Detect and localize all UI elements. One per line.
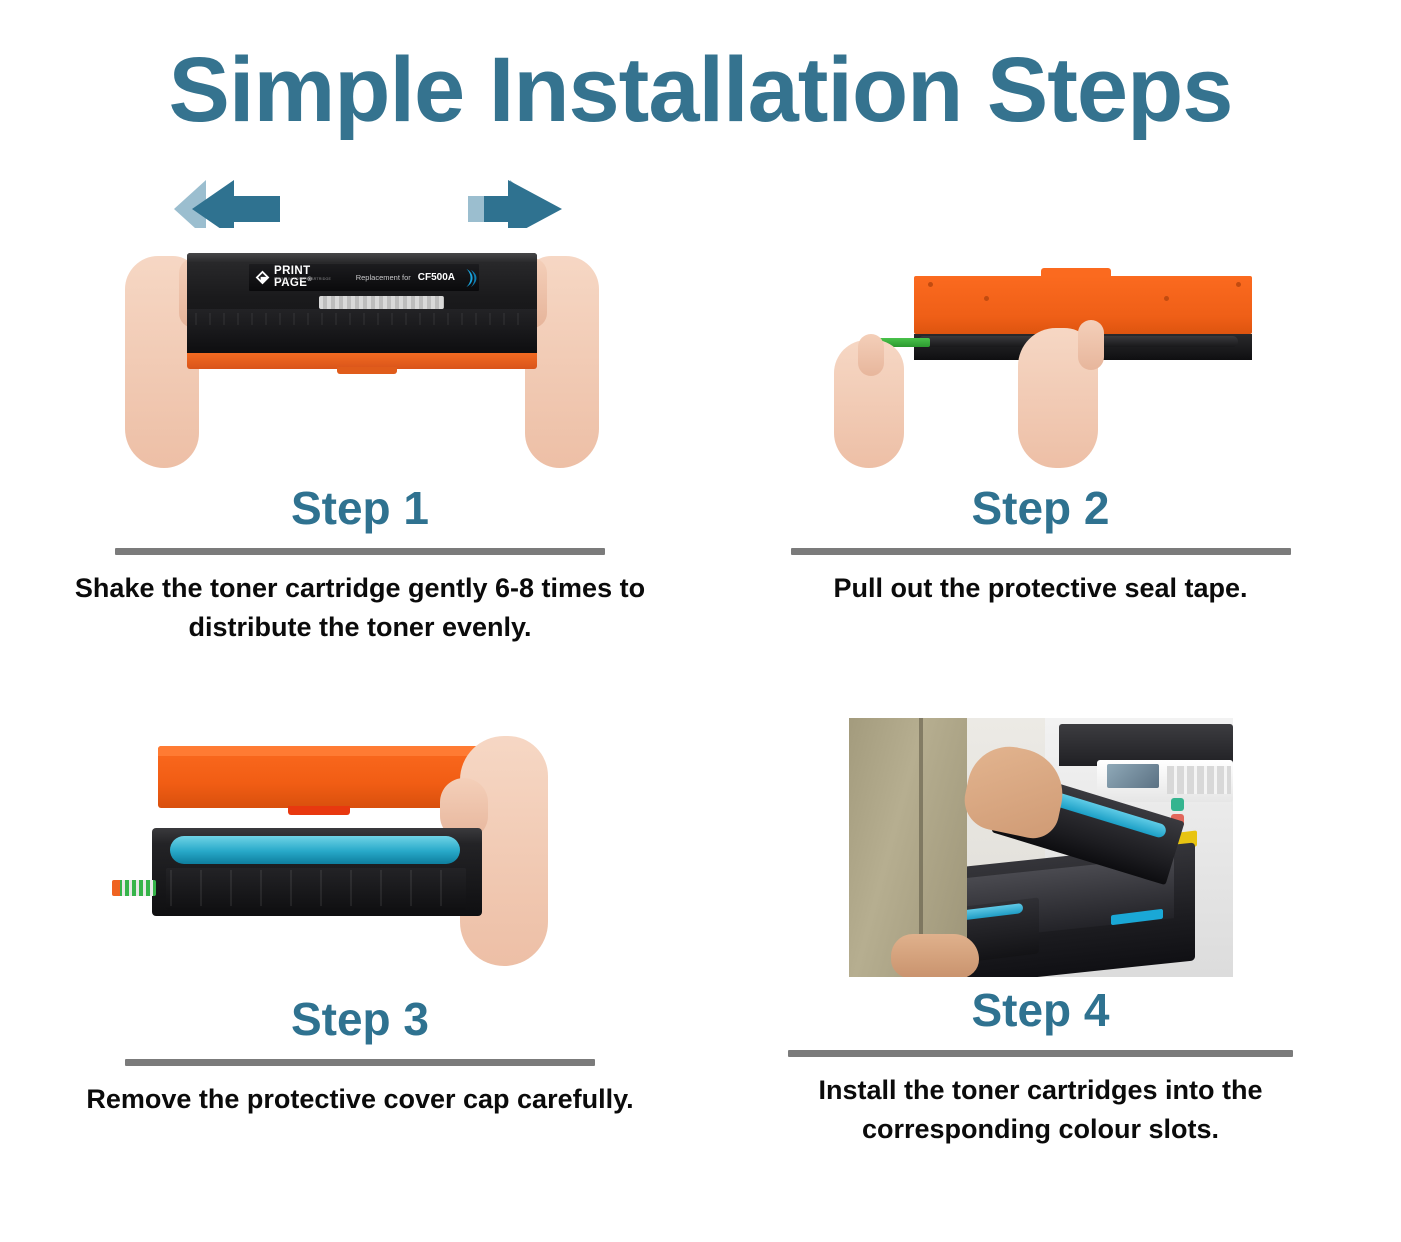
- hand-supporting: [891, 934, 979, 977]
- step-panel-4: Step 4 Install the toner cartridges into…: [700, 718, 1381, 1149]
- step-panel-3: Step 3 Remove the protective cover cap c…: [20, 718, 700, 1119]
- step-2-heading: Step 2: [700, 483, 1381, 534]
- step-2-photo-wrap: [700, 228, 1381, 475]
- step-1-photo-wrap: PRINT PAGE® PREMIUM TONER CARTRIDGE Repl…: [20, 228, 700, 475]
- step-1-divider: [115, 548, 605, 555]
- step-1-heading: Step 1: [20, 483, 700, 534]
- step-3-heading: Step 3: [20, 994, 700, 1045]
- product-label: PRINT PAGE® PREMIUM TONER CARTRIDGE Repl…: [249, 264, 479, 291]
- step-panel-2: Step 2 Pull out the protective seal tape…: [700, 228, 1381, 608]
- cartridge-ribs: [195, 313, 529, 325]
- step-3-photo-wrap: [20, 718, 700, 986]
- step-panel-1: PRINT PAGE® PREMIUM TONER CARTRIDGE Repl…: [20, 228, 700, 647]
- step-2-body: Pull out the protective seal tape.: [761, 569, 1321, 608]
- step-1-photo: PRINT PAGE® PREMIUM TONER CARTRIDGE Repl…: [87, 228, 633, 475]
- seal-tape-remnant: [118, 880, 156, 896]
- thumb-left: [858, 334, 884, 376]
- cartridge-ribs: [170, 870, 462, 906]
- cartridge-base-tab: [337, 367, 397, 374]
- cartridge-drum-strip: [319, 296, 444, 309]
- step-4-photo: [849, 718, 1233, 977]
- step-2-photo: [806, 228, 1276, 475]
- wave-logo-icon: [463, 268, 479, 288]
- step-3-photo: [110, 718, 610, 986]
- step-4-divider: [788, 1050, 1293, 1057]
- step-4-photo-wrap: [700, 718, 1381, 977]
- printer-keypad: [1167, 766, 1231, 794]
- model-code: CF500A: [418, 272, 455, 283]
- brand-name: PRINT PAGE® PREMIUM TONER CARTRIDGE: [274, 266, 349, 290]
- step-1-body: Shake the toner cartridge gently 6-8 tim…: [70, 569, 650, 647]
- cap-tab: [288, 806, 350, 815]
- thumb-right: [1078, 320, 1104, 370]
- brand-tagline: PREMIUM TONER CARTRIDGE: [274, 278, 331, 282]
- cap-lip: [158, 746, 483, 756]
- page-title: Simple Installation Steps: [0, 42, 1401, 139]
- step-3-divider: [125, 1059, 595, 1066]
- step-4-heading: Step 4: [700, 985, 1381, 1036]
- printer-start-button: [1171, 798, 1184, 811]
- cyan-drum: [170, 836, 460, 864]
- toner-cartridge: PRINT PAGE® PREMIUM TONER CARTRIDGE Repl…: [187, 253, 537, 365]
- infographic-page: Simple Installation Steps: [0, 0, 1401, 1242]
- seal-tape-tip: [112, 880, 120, 896]
- printer-display: [1107, 764, 1159, 788]
- step-3-body: Remove the protective cover cap carefull…: [30, 1080, 690, 1119]
- replacement-prefix: Replacement for: [356, 273, 411, 282]
- print-page-logo-icon: [255, 270, 270, 285]
- step-4-body: Install the toner cartridges into the co…: [771, 1071, 1311, 1149]
- step-2-divider: [791, 548, 1291, 555]
